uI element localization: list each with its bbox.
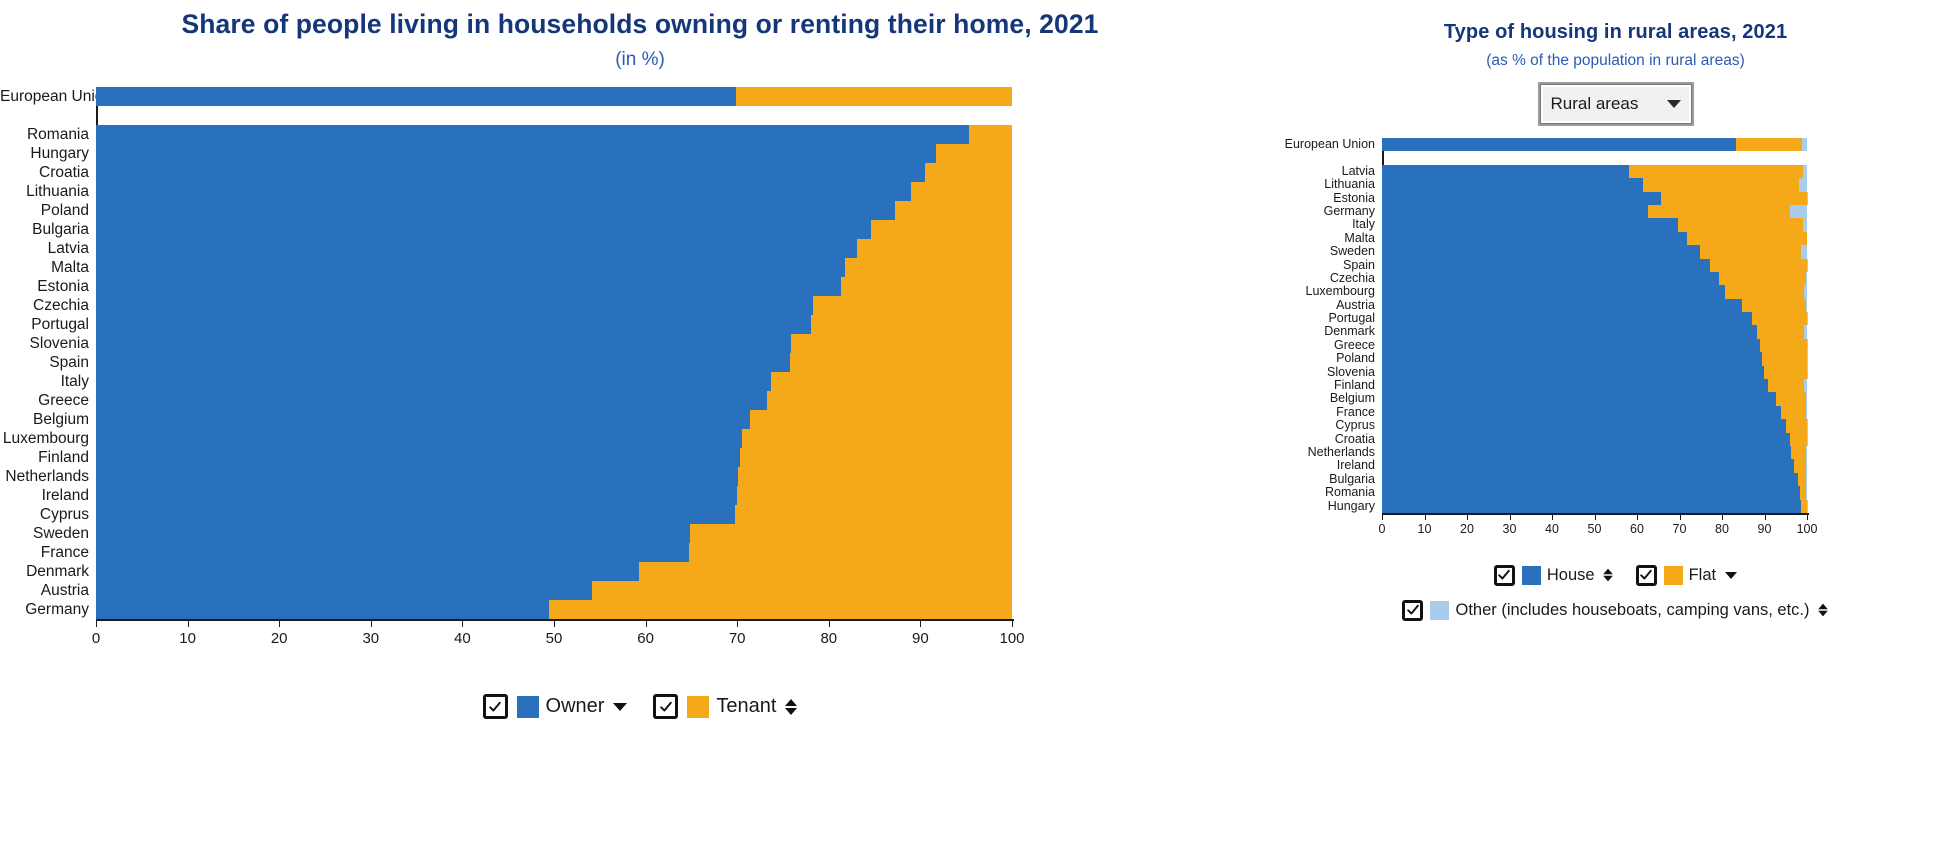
legend-item[interactable]: House	[1494, 565, 1614, 586]
axis-tick-label: 10	[1418, 522, 1432, 536]
bar-segment[interactable]	[1725, 285, 1804, 298]
bar-track	[1382, 366, 1807, 379]
country-label: Greece	[1280, 339, 1382, 352]
bar-track	[1382, 165, 1807, 178]
bar-segment[interactable]	[1736, 138, 1802, 151]
bar-segment[interactable]	[1382, 433, 1790, 446]
bar-track	[1382, 138, 1807, 151]
bar-row[interactable]: Malta	[1280, 232, 1951, 245]
bar-row[interactable]: Belgium	[0, 410, 1280, 429]
checkbox-icon[interactable]	[1636, 565, 1657, 586]
bar-row[interactable]: Lithuania	[1280, 178, 1951, 191]
bar-row[interactable]: Spain	[0, 353, 1280, 372]
bar-segment[interactable]	[871, 220, 1012, 239]
bar-segment[interactable]	[1742, 299, 1806, 312]
bar-track	[1382, 500, 1807, 513]
bar-row[interactable]: Croatia	[0, 163, 1280, 182]
bar-row[interactable]: Greece	[1280, 339, 1951, 352]
bar-segment[interactable]	[1806, 299, 1807, 312]
axis-tick	[1467, 515, 1468, 520]
sort-updown-icon[interactable]	[1818, 604, 1828, 617]
bar-track	[1382, 192, 1807, 205]
axis-tick-label: 90	[912, 630, 929, 647]
bar-segment[interactable]	[1768, 379, 1805, 392]
axis-tick-label: 20	[1460, 522, 1474, 536]
bar-track	[1382, 459, 1807, 472]
bar-row[interactable]: Estonia	[1280, 192, 1951, 205]
sort-updown-icon[interactable]	[1603, 569, 1613, 582]
bar-segment[interactable]	[1806, 459, 1807, 472]
bar-segment[interactable]	[689, 543, 1012, 562]
bar-segment[interactable]	[1762, 352, 1807, 365]
bar-row[interactable]: Italy	[1280, 218, 1951, 231]
bar-row[interactable]: Denmark	[1280, 325, 1951, 338]
bar-track	[1382, 299, 1807, 312]
bar-row[interactable]: Cyprus	[0, 505, 1280, 524]
bar-segment[interactable]	[790, 353, 1012, 372]
bar-row[interactable]: Hungary	[0, 144, 1280, 163]
axis-tick	[1012, 621, 1013, 627]
bar-segment[interactable]	[96, 201, 895, 220]
bar-segment[interactable]	[735, 505, 1012, 524]
bar-segment[interactable]	[1804, 325, 1807, 338]
bar-track	[1382, 285, 1807, 298]
country-label: Croatia	[0, 163, 96, 182]
country-label: Czechia	[0, 296, 96, 315]
bar-row[interactable]: Ireland	[0, 486, 1280, 505]
bar-segment[interactable]	[1764, 366, 1807, 379]
bar-row[interactable]: Austria	[1280, 299, 1951, 312]
bar-segment[interactable]	[1806, 486, 1807, 499]
country-label: Romania	[0, 125, 96, 144]
bar-segment[interactable]	[841, 277, 1012, 296]
bar-segment[interactable]	[1803, 165, 1807, 178]
legend-item[interactable]: Other (includes houseboats, camping vans…	[1402, 600, 1828, 621]
bar-row[interactable]: Estonia	[0, 277, 1280, 296]
bar-row[interactable]: Finland	[1280, 379, 1951, 392]
bar-segment[interactable]	[1382, 259, 1710, 272]
bar-segment[interactable]	[1382, 272, 1719, 285]
right-bar-rows: European UnionLatviaLithuaniaEstoniaGerm…	[1280, 138, 1951, 513]
bar-segment[interactable]	[1757, 325, 1804, 338]
bar-row[interactable]: Sweden	[0, 524, 1280, 543]
axis-tick-label: 70	[1673, 522, 1687, 536]
bar-segment[interactable]	[1382, 245, 1700, 258]
bar-segment[interactable]	[1382, 352, 1762, 365]
bar-segment[interactable]	[1801, 245, 1807, 258]
country-label: Slovenia	[0, 334, 96, 353]
bar-track	[1382, 446, 1807, 459]
bar-segment[interactable]	[96, 87, 736, 106]
axis-tick-label: 40	[1545, 522, 1559, 536]
bar-row[interactable]: Portugal	[1280, 312, 1951, 325]
bar-segment[interactable]	[639, 562, 1012, 581]
bar-track	[96, 429, 1012, 448]
country-label: Austria	[0, 581, 96, 600]
bar-segment[interactable]	[96, 353, 790, 372]
bar-row[interactable]: Luxembourg	[1280, 285, 1951, 298]
bar-segment[interactable]	[1382, 446, 1791, 459]
bar-segment[interactable]	[96, 391, 767, 410]
country-label: Lithuania	[1280, 178, 1382, 191]
bar-row[interactable]: Czechia	[1280, 272, 1951, 285]
bar-segment[interactable]	[96, 524, 690, 543]
bar-row[interactable]: Poland	[0, 201, 1280, 220]
country-label: Czechia	[1280, 272, 1382, 285]
country-label: Estonia	[1280, 192, 1382, 205]
bar-row[interactable]: Denmark	[0, 562, 1280, 581]
bar-segment[interactable]	[1382, 339, 1760, 352]
bar-segment[interactable]	[767, 391, 1012, 410]
bar-segment[interactable]	[1719, 272, 1807, 285]
bar-segment[interactable]	[1804, 285, 1807, 298]
bar-segment[interactable]	[1382, 312, 1752, 325]
country-label: European Union	[1280, 138, 1382, 151]
bar-segment[interactable]	[1382, 165, 1629, 178]
bar-segment[interactable]	[1382, 205, 1648, 218]
bar-segment[interactable]	[96, 505, 735, 524]
bar-row[interactable]: Slovenia	[1280, 366, 1951, 379]
bar-row[interactable]: Latvia	[0, 239, 1280, 258]
axis-tick	[1680, 515, 1681, 520]
right-plot-area: European UnionLatviaLithuaniaEstoniaGerm…	[1280, 138, 1951, 541]
country-label: Romania	[1280, 486, 1382, 499]
bar-segment[interactable]	[96, 258, 845, 277]
bar-segment[interactable]	[96, 182, 911, 201]
bar-segment[interactable]	[1806, 446, 1807, 459]
bar-row[interactable]: Luxembourg	[0, 429, 1280, 448]
country-label: Denmark	[1280, 325, 1382, 338]
axis-tick-label: 60	[1630, 522, 1644, 536]
bar-segment[interactable]	[96, 467, 738, 486]
bar-segment[interactable]	[1382, 379, 1768, 392]
bar-segment[interactable]	[96, 600, 549, 619]
bar-track	[96, 220, 1012, 239]
bar-segment[interactable]	[1710, 259, 1806, 272]
country-label: Sweden	[1280, 245, 1382, 258]
country-label: Cyprus	[1280, 419, 1382, 432]
legend-item[interactable]: Owner	[483, 694, 628, 719]
bar-segment[interactable]	[1382, 138, 1736, 151]
bar-segment[interactable]	[690, 524, 1012, 543]
country-label: Hungary	[0, 144, 96, 163]
bar-row[interactable]: Czechia	[0, 296, 1280, 315]
bar-track	[1382, 392, 1807, 405]
bar-segment[interactable]	[96, 277, 841, 296]
bar-segment[interactable]	[96, 581, 592, 600]
axis-tick	[96, 621, 97, 627]
bar-track	[96, 372, 1012, 391]
bar-segment[interactable]	[742, 429, 1012, 448]
bar-segment[interactable]	[1790, 205, 1807, 218]
bar-segment[interactable]	[1806, 392, 1807, 405]
country-label: Germany	[1280, 205, 1382, 218]
bar-segment[interactable]	[1382, 459, 1794, 472]
bar-row[interactable]: Bulgaria	[0, 220, 1280, 239]
country-label: Sweden	[0, 524, 96, 543]
country-label: Bulgaria	[1280, 473, 1382, 486]
bar-row[interactable]: Latvia	[1280, 165, 1951, 178]
bar-row[interactable]: Portugal	[0, 315, 1280, 334]
bar-segment[interactable]	[1382, 178, 1643, 191]
country-label: Croatia	[1280, 433, 1382, 446]
country-label: Latvia	[0, 239, 96, 258]
right-chart-title: Type of housing in rural areas, 2021	[1280, 17, 1951, 47]
bar-segment[interactable]	[1382, 285, 1725, 298]
bar-track	[1382, 379, 1807, 392]
bar-segment[interactable]	[592, 581, 1012, 600]
bar-segment[interactable]	[1382, 218, 1678, 231]
legend-label: Owner	[546, 695, 605, 718]
bar-row[interactable]: Cyprus	[1280, 419, 1951, 432]
axis-tick-label: 30	[1503, 522, 1517, 536]
bar-track	[1382, 218, 1807, 231]
bar-segment[interactable]	[96, 125, 969, 144]
legend-label: Flat	[1689, 566, 1717, 585]
bar-row[interactable]: Romania	[1280, 486, 1951, 499]
bar-segment[interactable]	[1382, 325, 1757, 338]
bar-segment[interactable]	[96, 144, 936, 163]
bar-track	[96, 486, 1012, 505]
bar-segment[interactable]	[1382, 500, 1801, 513]
bar-track	[1382, 433, 1807, 446]
bar-segment[interactable]	[1382, 232, 1687, 245]
bar-segment[interactable]	[1799, 178, 1807, 191]
axis-tick	[829, 621, 830, 627]
bar-row[interactable]: Sweden	[1280, 245, 1951, 258]
bar-segment[interactable]	[96, 562, 639, 581]
bar-segment[interactable]	[1382, 192, 1661, 205]
bar-track	[1382, 419, 1807, 432]
checkbox-icon[interactable]	[1402, 600, 1423, 621]
bar-segment[interactable]	[1791, 446, 1805, 459]
axis-tick-label: 30	[362, 630, 379, 647]
bar-segment[interactable]	[1643, 178, 1799, 191]
bar-segment[interactable]	[750, 410, 1012, 429]
bar-row[interactable]: Hungary	[1280, 500, 1951, 513]
bar-segment[interactable]	[1776, 392, 1806, 405]
country-label: Malta	[0, 258, 96, 277]
bar-segment[interactable]	[1760, 339, 1806, 352]
bar-row[interactable]: Croatia	[1280, 433, 1951, 446]
bar-row-spacer	[0, 106, 1280, 125]
bar-row[interactable]: Spain	[1280, 259, 1951, 272]
bar-row[interactable]: Greece	[0, 391, 1280, 410]
bar-segment[interactable]	[1803, 218, 1807, 231]
bar-segment[interactable]	[1382, 486, 1800, 499]
bar-track	[96, 524, 1012, 543]
bar-row[interactable]: Poland	[1280, 352, 1951, 365]
axis-tick	[1510, 515, 1511, 520]
bar-segment[interactable]	[1804, 379, 1807, 392]
bar-segment[interactable]	[1382, 406, 1781, 419]
caret-down-icon[interactable]	[613, 703, 627, 711]
bar-segment[interactable]	[1806, 473, 1807, 486]
axis-tick	[1807, 515, 1808, 520]
country-label: Denmark	[0, 562, 96, 581]
bar-row[interactable]: Romania	[0, 125, 1280, 144]
bar-segment[interactable]	[1382, 473, 1798, 486]
bar-segment[interactable]	[925, 163, 1012, 182]
bar-row[interactable]: Bulgaria	[1280, 473, 1951, 486]
bar-segment[interactable]	[1786, 419, 1806, 432]
bar-row[interactable]: Slovenia	[0, 334, 1280, 353]
bar-segment[interactable]	[96, 429, 742, 448]
bar-segment[interactable]	[1806, 406, 1807, 419]
bar-segment[interactable]	[1802, 138, 1807, 151]
checkbox-icon[interactable]	[483, 694, 508, 719]
legend-item[interactable]: Tenant	[653, 694, 797, 719]
bar-segment[interactable]	[1781, 406, 1806, 419]
bar-segment[interactable]	[96, 239, 857, 258]
bar-segment[interactable]	[736, 87, 1012, 106]
bar-segment[interactable]	[911, 182, 1012, 201]
bar-segment[interactable]	[857, 239, 1012, 258]
bar-segment[interactable]	[845, 258, 1012, 277]
bar-track	[96, 353, 1012, 372]
bar-segment[interactable]	[1700, 245, 1801, 258]
axis-tick-label: 50	[546, 630, 563, 647]
axis-tick	[188, 621, 189, 627]
bar-track	[1382, 339, 1807, 352]
bar-segment[interactable]	[96, 220, 871, 239]
bar-segment[interactable]	[1382, 366, 1764, 379]
bar-row[interactable]: France	[1280, 406, 1951, 419]
bar-row[interactable]: European Union	[0, 87, 1280, 106]
axis-tick	[554, 621, 555, 627]
country-label: Latvia	[1280, 165, 1382, 178]
bar-segment[interactable]	[771, 372, 1012, 391]
bar-segment[interactable]	[96, 543, 689, 562]
country-label: Belgium	[0, 410, 96, 429]
bar-segment[interactable]	[96, 410, 750, 429]
bar-row[interactable]: Austria	[0, 581, 1280, 600]
bar-segment[interactable]	[811, 315, 1012, 334]
bar-segment[interactable]	[1678, 218, 1803, 231]
bar-segment[interactable]	[96, 486, 737, 505]
axis-tick	[737, 621, 738, 627]
country-label: France	[0, 543, 96, 562]
area-filter-wrap: Rural areas	[1280, 84, 1951, 124]
legend-item[interactable]: Flat	[1636, 565, 1738, 586]
caret-down-icon[interactable]	[1725, 572, 1737, 579]
bar-segment[interactable]	[1790, 433, 1807, 446]
axis-tick-label: 80	[1715, 522, 1729, 536]
bar-segment[interactable]	[96, 163, 925, 182]
bar-segment[interactable]	[813, 296, 1012, 315]
axis-tick-label: 40	[454, 630, 471, 647]
bar-track	[1382, 151, 1807, 164]
bar-track	[96, 581, 1012, 600]
bar-row[interactable]: Italy	[0, 372, 1280, 391]
bar-row[interactable]: Belgium	[1280, 392, 1951, 405]
axis-tick-label: 60	[637, 630, 654, 647]
bar-segment[interactable]	[1382, 392, 1776, 405]
bar-segment[interactable]	[1687, 232, 1807, 245]
sort-updown-icon[interactable]	[785, 699, 797, 715]
axis-tick	[1425, 515, 1426, 520]
left-bar-rows: European UnionRomaniaHungaryCroatiaLithu…	[0, 87, 1280, 619]
bar-segment[interactable]	[1794, 459, 1806, 472]
chevron-down-icon	[1667, 100, 1681, 108]
bar-row[interactable]: Ireland	[1280, 459, 1951, 472]
checkbox-icon[interactable]	[653, 694, 678, 719]
bar-segment[interactable]	[969, 125, 1012, 144]
left-chart-title: Share of people living in households own…	[0, 5, 1280, 43]
bar-segment[interactable]	[549, 600, 1012, 619]
bar-segment[interactable]	[895, 201, 1012, 220]
country-label: France	[1280, 406, 1382, 419]
right-legend-row-1: HouseFlat	[1280, 565, 1951, 586]
checkbox-icon[interactable]	[1494, 565, 1515, 586]
bar-segment[interactable]	[1798, 473, 1807, 486]
country-label: Germany	[0, 600, 96, 619]
bar-segment[interactable]	[1629, 165, 1803, 178]
bar-segment[interactable]	[96, 296, 813, 315]
country-label: Bulgaria	[0, 220, 96, 239]
bar-row[interactable]: Finland	[0, 448, 1280, 467]
bar-segment[interactable]	[1806, 272, 1807, 285]
bar-track	[96, 87, 1012, 106]
bar-row[interactable]: Malta	[0, 258, 1280, 277]
bar-segment[interactable]	[1752, 312, 1807, 325]
bar-segment[interactable]	[96, 372, 771, 391]
bar-row[interactable]: France	[0, 543, 1280, 562]
bar-segment[interactable]	[740, 448, 1012, 467]
bar-segment[interactable]	[936, 144, 1012, 163]
bar-track	[96, 125, 1012, 144]
axis-tick-label: 80	[820, 630, 837, 647]
right-x-axis-ticks: 0102030405060708090100	[1382, 515, 1807, 541]
country-label: Malta	[1280, 232, 1382, 245]
bar-row[interactable]: Netherlands	[1280, 446, 1951, 459]
country-label: Ireland	[0, 486, 96, 505]
bar-row[interactable]: Germany	[0, 600, 1280, 619]
bar-track	[1382, 325, 1807, 338]
area-filter-dropdown[interactable]: Rural areas	[1540, 84, 1692, 124]
legend-color-swatch	[1664, 566, 1683, 585]
bar-segment[interactable]	[1382, 299, 1742, 312]
bar-segment[interactable]	[1648, 205, 1790, 218]
bar-row[interactable]: Lithuania	[0, 182, 1280, 201]
bar-segment[interactable]	[738, 467, 1012, 486]
bar-segment[interactable]	[96, 315, 811, 334]
bar-segment[interactable]	[791, 334, 1012, 353]
axis-tick	[371, 621, 372, 627]
country-label: Portugal	[1280, 312, 1382, 325]
country-label: Spain	[0, 353, 96, 372]
legend-label: House	[1547, 566, 1595, 585]
bar-track	[1382, 232, 1807, 245]
bar-track	[1382, 352, 1807, 365]
country-label: Finland	[1280, 379, 1382, 392]
legend-label: Tenant	[716, 695, 776, 718]
bar-segment[interactable]	[96, 334, 791, 353]
axis-tick	[1382, 515, 1383, 520]
country-label: Finland	[0, 448, 96, 467]
country-label: Spain	[1280, 259, 1382, 272]
bar-row[interactable]: European Union	[1280, 138, 1951, 151]
bar-track	[96, 600, 1012, 619]
bar-row[interactable]: Netherlands	[0, 467, 1280, 486]
bar-segment[interactable]	[1661, 192, 1807, 205]
country-label: Luxembourg	[1280, 285, 1382, 298]
axis-tick-label: 100	[999, 630, 1024, 647]
bar-segment[interactable]	[1382, 419, 1786, 432]
bar-row[interactable]: Germany	[1280, 205, 1951, 218]
bar-segment[interactable]	[96, 448, 740, 467]
bar-segment[interactable]	[737, 486, 1012, 505]
